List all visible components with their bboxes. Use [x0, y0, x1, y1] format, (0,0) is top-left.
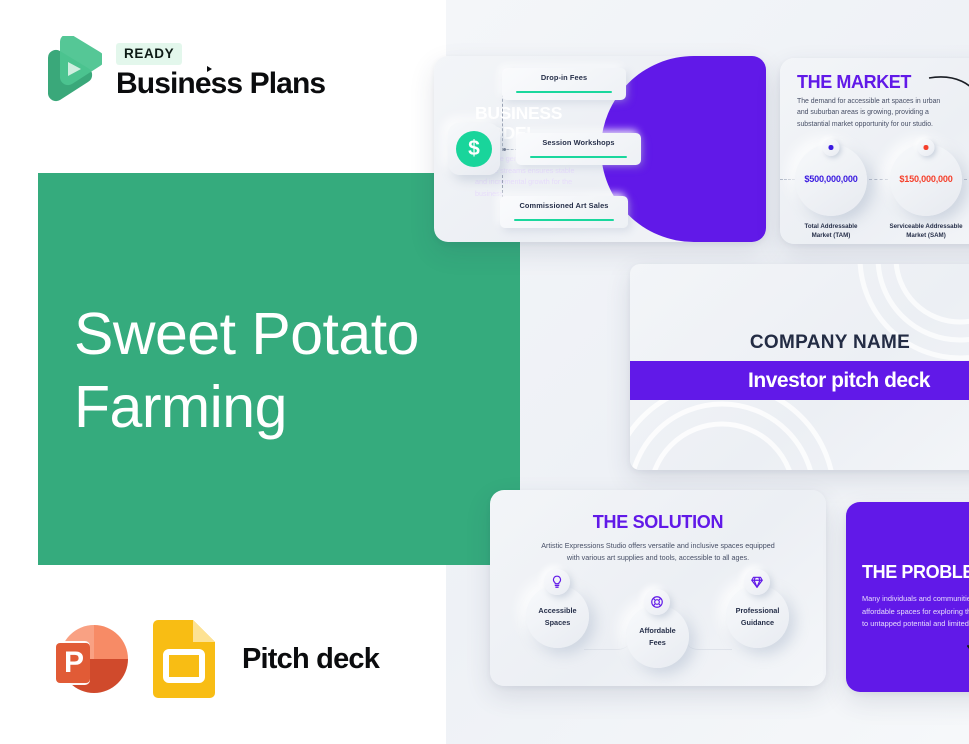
node-label: Accessible Spaces — [538, 605, 576, 628]
poster-canvas: Sweet Potato Farming READY Business Plan… — [0, 0, 969, 744]
pin-dot-icon — [918, 139, 935, 156]
node-label: Affordable Fees — [639, 625, 676, 648]
page-title: Sweet Potato Farming — [74, 298, 419, 443]
curved-arrow-icon — [927, 72, 969, 114]
pin-dot-icon — [823, 139, 840, 156]
brand-logo[interactable]: READY Business Plans — [40, 36, 325, 104]
format-footer: P Pitch deck — [42, 613, 379, 705]
brand-name: Business Plans — [116, 68, 325, 100]
business-model-item: Drop-in Fees — [502, 68, 626, 100]
dollar-icon: $ — [448, 123, 500, 175]
market-title: THE MARKET — [797, 72, 911, 93]
play-logo-icon — [40, 36, 102, 104]
solution-connector — [584, 636, 632, 650]
item-label: Drop-in Fees — [502, 73, 626, 82]
investor-pitch-label: Investor pitch deck — [748, 369, 930, 393]
company-name: COMPANY NAME — [630, 332, 969, 354]
metric-value: $500,000,000 — [795, 174, 867, 184]
node-label: Professional Guidance — [736, 605, 780, 628]
item-label: Session Workshops — [516, 138, 641, 147]
solution-title: THE SOLUTION — [490, 512, 826, 533]
format-label: Pitch deck — [242, 643, 379, 676]
slide-solution[interactable]: THE SOLUTION Artistic Expressions Studio… — [490, 490, 826, 686]
market-metric-tam: $500,000,000 Total Addressable Market (T… — [795, 144, 867, 216]
problem-title: THE PROBLEM — [862, 562, 969, 583]
investor-pitch-bar: Investor pitch deck — [630, 361, 969, 400]
slide-business-model[interactable]: BUSINESS MODEL Revenue generation throug… — [434, 56, 766, 242]
slide-problem[interactable]: THE PROBLEM Many individuals and communi… — [846, 502, 969, 692]
metric-caption: Serviceable Addressable Market (SAM) — [880, 222, 969, 241]
brand-text: READY Business Plans — [116, 41, 325, 100]
business-model-item: Session Workshops — [516, 133, 641, 165]
svg-text:P: P — [64, 646, 84, 679]
slide-market[interactable]: THE MARKET The demand for accessible art… — [780, 58, 969, 244]
market-metric-sam: $150,000,000 Serviceable Addressable Mar… — [890, 144, 962, 216]
solution-body: Artistic Expressions Studio offers versa… — [540, 540, 776, 563]
market-dash — [964, 179, 969, 180]
brand-accent-triangle-icon — [207, 66, 212, 72]
metric-value: $150,000,000 — [890, 174, 962, 184]
diamond-icon — [744, 569, 770, 595]
google-slides-icon — [153, 620, 215, 698]
slide-company-name[interactable]: COMPANY NAME Investor pitch deck — [630, 264, 969, 470]
powerpoint-icon: P — [42, 613, 134, 705]
business-model-item: Commissioned Art Sales — [500, 196, 628, 228]
connector-dot — [503, 148, 506, 151]
problem-body: Many individuals and communities lack ac… — [862, 593, 969, 631]
brand-name-text: Business Plans — [116, 67, 325, 100]
lightbulb-icon — [544, 569, 570, 595]
ready-badge: READY — [116, 43, 182, 65]
item-label: Commissioned Art Sales — [500, 201, 628, 210]
market-dash — [869, 179, 888, 180]
metric-caption: Total Addressable Market (TAM) — [785, 222, 877, 241]
lifebuoy-icon — [644, 589, 670, 615]
market-dash — [780, 179, 795, 180]
solution-connector — [684, 636, 732, 650]
